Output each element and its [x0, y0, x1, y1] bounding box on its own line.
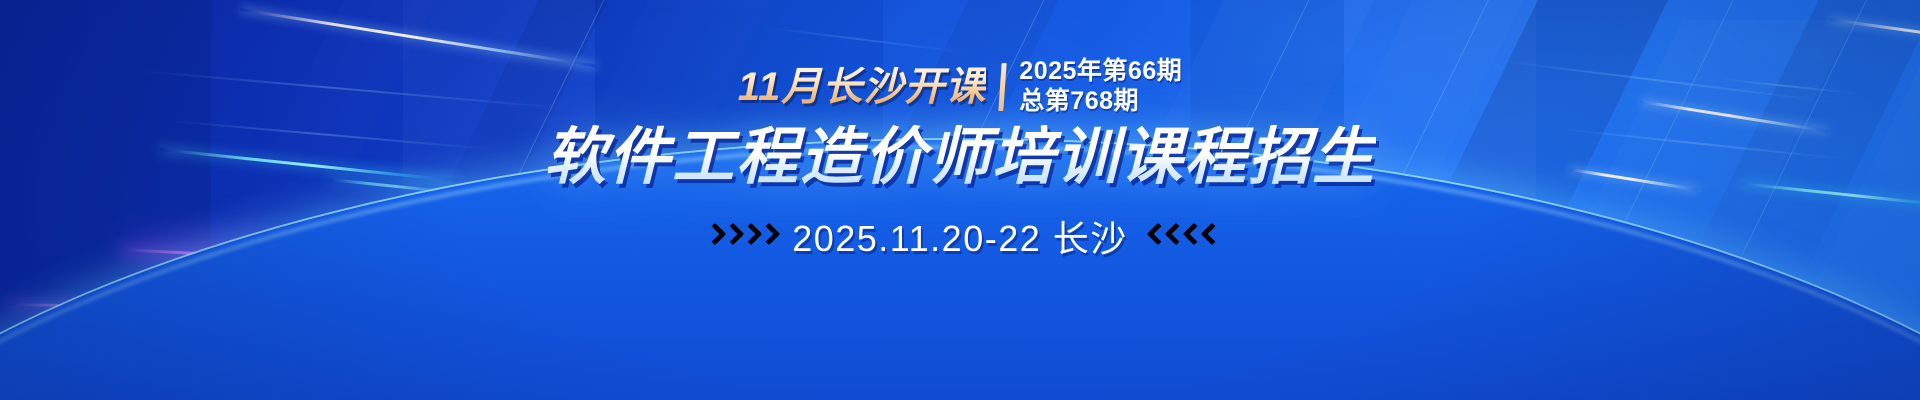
- event-date-location: 2025.11.20-22 长沙: [792, 210, 1128, 262]
- session-year-label: 2025年第66期: [1019, 58, 1182, 86]
- course-enrollment-banner: 11月长沙开课 2025年第66期 总第768期 软件工程造价师培训课程招生 2…: [0, 0, 1920, 400]
- vertical-bar-icon: [999, 63, 1007, 111]
- chevrons-right-icon: [705, 223, 774, 249]
- date-row: 2025.11.20-22 长沙: [705, 210, 1215, 262]
- banner-content: 11月长沙开课 2025年第66期 总第768期 软件工程造价师培训课程招生 2…: [0, 0, 1920, 400]
- kicker-main-text: 11月长沙开课: [738, 67, 987, 107]
- page-title: 软件工程造价师培训课程招生: [544, 125, 1376, 192]
- chevrons-left-icon: [1146, 223, 1215, 249]
- session-total-label: 总第768期: [1019, 88, 1182, 116]
- session-info: 2025年第66期 总第768期: [1019, 58, 1182, 115]
- kicker-row: 11月长沙开课 2025年第66期 总第768期: [738, 58, 1182, 115]
